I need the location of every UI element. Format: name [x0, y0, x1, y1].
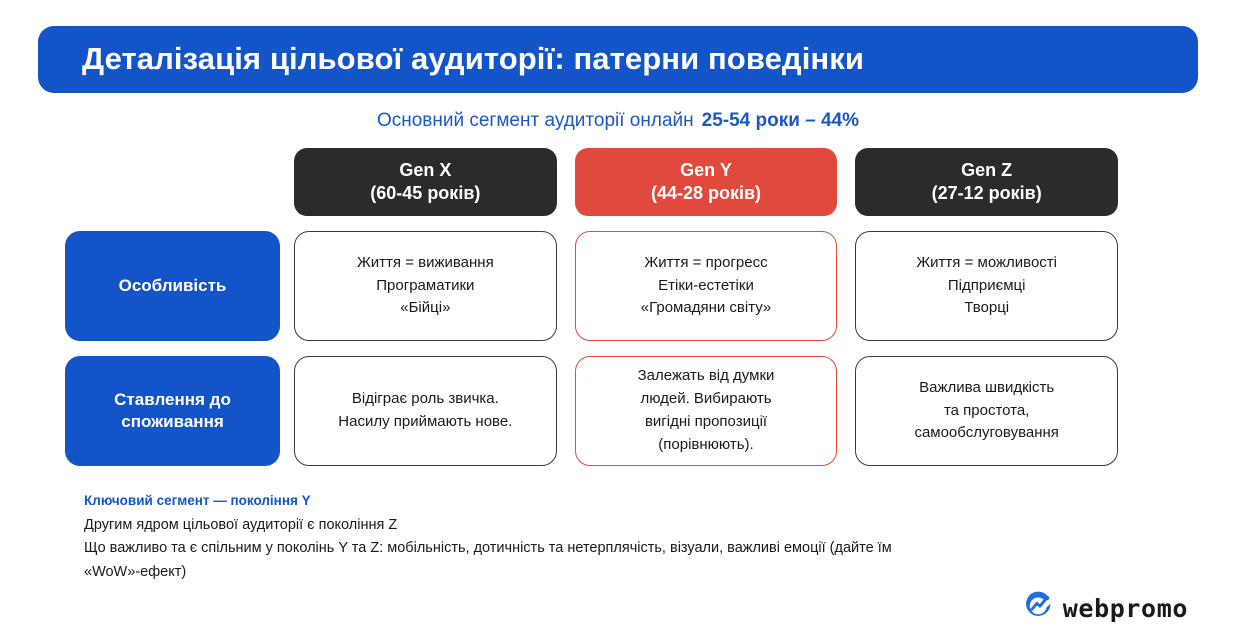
card-line: Підприємці — [948, 275, 1026, 298]
cell-col-0-row-1: Відіграє роль звичка. Насилу приймають н… — [294, 356, 557, 466]
card-line: Життя = виживання — [357, 252, 494, 275]
card-line: «Бійці» — [400, 297, 450, 320]
subtitle: Основний сегмент аудиторії онлайн25-54 р… — [0, 110, 1236, 133]
row-spacer — [65, 216, 1118, 231]
card-line: Етіки-естетіки — [658, 275, 754, 298]
brand-logo: webpromo — [1024, 591, 1188, 626]
page-title: Деталізація цільової аудиторії: патерни … — [38, 42, 864, 76]
card-line: Програматики — [376, 275, 474, 298]
column-gen-x: Gen X (60-45 років) — [294, 148, 557, 216]
generation-age-1: (44-28 років) — [651, 182, 761, 205]
generation-name-1: Gen Y — [680, 159, 732, 182]
content-card-r0c1[interactable]: Життя = прогресс Етіки-естетіки «Громадя… — [575, 231, 838, 341]
card-line: Життя = можливості — [916, 252, 1057, 275]
content-card-r1c1[interactable]: Залежать від думки людей. Вибирають вигі… — [575, 356, 838, 466]
card-line: людей. Вибирають — [640, 388, 771, 411]
column-header-card-1[interactable]: Gen Y (44-28 років) — [575, 148, 838, 216]
slide-title-bar: Деталізація цільової аудиторії: патерни … — [38, 26, 1198, 93]
card-line: самообслуговування — [914, 422, 1058, 445]
column-header-card-0[interactable]: Gen X (60-45 років) — [294, 148, 557, 216]
webpromo-circle-chart-icon — [1024, 591, 1054, 626]
row-label-slot-0: Особливість — [65, 231, 280, 341]
cell-col-1-row-1: Залежать від думки людей. Вибирають вигі… — [575, 356, 838, 466]
generation-age-2: (27-12 років) — [932, 182, 1042, 205]
notes-heading: Ключовий сегмент — покоління Y — [84, 490, 1174, 512]
matrix-row-consumption: Ставлення до споживання Відіграє роль зв… — [65, 356, 1118, 466]
cell-col-2-row-1: Важлива швидкість та простота, самообслу… — [855, 356, 1118, 466]
card-line: вигідні пропозиції — [645, 411, 767, 434]
card-line: Відіграє роль звичка. — [352, 388, 499, 411]
slide-canvas: Деталізація цільової аудиторії: патерни … — [0, 0, 1236, 642]
generation-name-0: Gen X — [399, 159, 451, 182]
row-label-feature[interactable]: Особливість — [65, 231, 280, 341]
generation-age-0: (60-45 років) — [370, 182, 480, 205]
subtitle-normal-text: Основний сегмент аудиторії онлайн — [377, 110, 694, 131]
card-line: Залежать від думки — [638, 365, 775, 388]
footer-notes: Ключовий сегмент — покоління Y Другим яд… — [84, 490, 1174, 584]
cell-col-0-row-0: Життя = виживання Програматики «Бійці» — [294, 231, 557, 341]
matrix-header-row: Gen X (60-45 років) Gen Y (44-28 років) … — [65, 148, 1118, 216]
column-gen-z: Gen Z (27-12 років) — [855, 148, 1118, 216]
card-line: Насилу приймають нове. — [338, 411, 512, 434]
matrix-row-feature: Особливість Життя = виживання Програмати… — [65, 231, 1118, 341]
notes-line-2: Що важливо та є спільним у поколінь Y та… — [84, 537, 1174, 560]
column-header-card-2[interactable]: Gen Z (27-12 років) — [855, 148, 1118, 216]
card-line: Життя = прогресс — [644, 252, 767, 275]
generation-matrix: Gen X (60-45 років) Gen Y (44-28 років) … — [65, 148, 1118, 466]
row-label-slot-1: Ставлення до споживання — [65, 356, 280, 466]
notes-line-1: Другим ядром цільової аудиторії є поколі… — [84, 514, 1174, 537]
card-line: (порівнюють). — [658, 434, 753, 457]
row-spacer — [65, 341, 1118, 356]
generation-name-2: Gen Z — [961, 159, 1012, 182]
content-card-r1c0[interactable]: Відіграє роль звичка. Насилу приймають н… — [294, 356, 557, 466]
card-line: Важлива швидкість — [919, 377, 1054, 400]
content-card-r1c2[interactable]: Важлива швидкість та простота, самообслу… — [855, 356, 1118, 466]
cell-col-1-row-0: Життя = прогресс Етіки-естетіки «Громадя… — [575, 231, 838, 341]
subtitle-highlight-stat: 25-54 роки – 44% — [702, 110, 859, 131]
cell-col-2-row-0: Життя = можливості Підприємці Творці — [855, 231, 1118, 341]
row-label-consumption[interactable]: Ставлення до споживання — [65, 356, 280, 466]
card-line: «Громадяни світу» — [641, 297, 772, 320]
card-line: Творці — [964, 297, 1009, 320]
content-card-r0c2[interactable]: Життя = можливості Підприємці Творці — [855, 231, 1118, 341]
notes-line-3: «WoW»-ефект) — [84, 561, 1174, 584]
column-gen-y: Gen Y (44-28 років) — [575, 148, 838, 216]
card-line: та простота, — [944, 400, 1029, 423]
webpromo-wordmark: webpromo — [1063, 594, 1188, 623]
content-card-r0c0[interactable]: Життя = виживання Програматики «Бійці» — [294, 231, 557, 341]
